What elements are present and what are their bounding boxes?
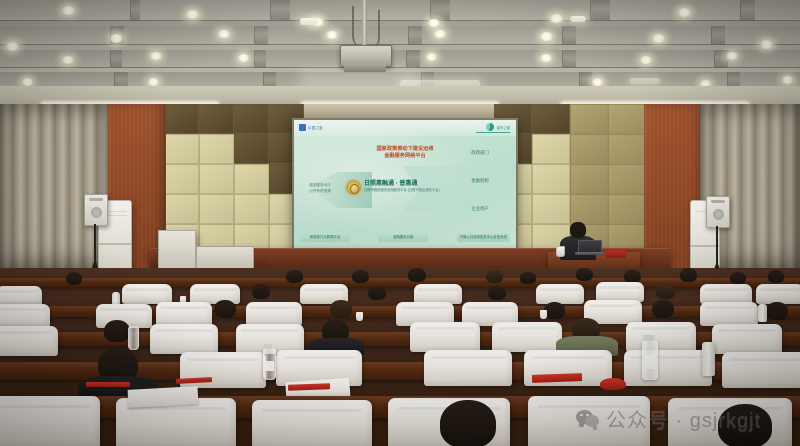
slide-logo-right: 省市之窗 [486,123,510,131]
attendee-head [520,272,536,284]
ceiling-downlight [148,78,159,86]
bottle-cap [264,344,272,349]
ceiling-downlight [62,56,74,64]
ceiling-downlight [426,53,437,61]
ceiling-slot-light [570,16,586,22]
chair-cover [156,302,212,326]
ceiling-downlight [726,52,738,60]
slide-bottom-chip-row: 政府部门大数据平台 金融服务对接 济南公共信用信息中心征信系统 [300,233,510,242]
chair-cover [624,350,712,386]
slide-right-label-government: 政府部门 [452,150,508,156]
ceiling-downlight [434,30,446,38]
eyeglasses [122,360,136,371]
ceiling-downlight [238,54,249,62]
slide-header-bar [294,120,516,136]
slide-left-label: 政务服务大厅 公开专项资源 [298,182,342,194]
attendee-head [576,268,593,281]
attendee-head [488,286,506,300]
red-ribbon [600,378,626,390]
ceiling-downlight [326,31,338,39]
ceiling-downlight [678,8,691,17]
attendee-head [486,270,503,283]
ceiling-downlight [110,34,123,43]
watermark-text: 公众号 · gsjrkgjt [606,404,761,433]
chair-cover [756,284,800,304]
attendee-head [440,400,496,446]
slide-logo-right-text: 省市之窗 [496,125,510,130]
document-paper [128,386,199,408]
chair-cover [0,304,50,328]
projection-screen: 中国之窗 省市之窗 国家政策推动下建设运维 金融服务网络平台 日照惠融通 · 普… [292,118,518,250]
attendee-head [656,284,675,299]
slide-content: 中国之窗 省市之窗 国家政策推动下建设运维 金融服务网络平台 日照惠融通 · 普… [294,120,516,248]
wechat-icon [576,409,600,429]
loudspeaker-left [84,194,108,226]
attendee-head [368,286,386,300]
chair-cover [122,284,172,304]
presenter-nameplate [606,250,626,258]
bottle-cap [643,335,654,341]
chair-cover [414,284,462,304]
ceiling-downlight [22,78,33,86]
attendee-head [408,268,426,282]
slide-title-line1: 国家政策推动下建设运维 [376,146,433,153]
ceiling-downlight [652,34,665,43]
ceiling-downlight [782,76,793,84]
chair-cover [0,286,42,306]
chair-cover [712,324,782,354]
ceiling-downlight [218,30,230,38]
attendee-head [286,270,303,283]
wechat-bubble-small [585,415,599,427]
bottle-label [644,355,656,369]
slide-subtitle: 日照市融资服务信用服务平台 (日照市惠企服务平台) [364,187,440,192]
ceiling-downlight [62,6,75,15]
ceiling-downlight [550,14,563,23]
attendee-head [66,272,82,285]
slide-logo-right-icon [486,123,494,131]
chair-cover [190,284,240,304]
slide-title-line2: 金融服务网络平台 [376,153,433,160]
conference-hall-photo: 中国之窗 省市之窗 国家政策推动下建设运维 金融服务网络平台 日照惠融通 · 普… [0,0,800,446]
water-bottle [263,348,276,380]
ceiling-downlight [760,40,773,49]
ceiling-slot-light [300,18,318,25]
paper-cup [356,312,363,321]
slide-logo-left-text: 中国之窗 [308,125,323,130]
ceiling-downlight [592,78,603,86]
presenter-cup [556,246,565,257]
chair-cover [536,284,584,304]
window-curtain-left [0,104,108,276]
attendee-head [252,284,270,299]
chair-cover [150,324,218,354]
projector-cable [366,10,380,50]
chair-cover [0,326,58,356]
water-bottle [128,326,139,350]
attendee-head [680,268,697,282]
slide-logo-left-icon [299,124,306,131]
slide-right-label-enterprise: 企业用户 [452,206,508,212]
attendee-head [544,302,565,319]
ceiling-downlight [6,42,19,51]
slide-right-label-column: 政府部门 金融机构 企业用户 [452,150,508,234]
ceiling-downlight [540,54,552,62]
slide-left-label-line2: 公开专项资源 [298,188,342,194]
attendee-head [652,300,674,318]
slide-seal-icon [346,180,361,195]
slide-chip-bigdata: 政府部门大数据平台 [300,233,350,242]
chair-cover [252,400,372,446]
bottle-label [265,361,274,371]
chair-cover [722,352,800,388]
desk-row [0,278,800,287]
attendee-head [766,302,788,320]
attendee-head [768,270,784,283]
thermos-bottle [758,304,767,322]
ceiling-downlight [186,10,199,19]
slide-header-rule [476,132,510,133]
projector-base [344,64,386,72]
slide-seal-inner-icon [350,184,359,194]
ceiling-slot-light [630,78,660,84]
paper-cup [540,310,547,319]
slide-right-label-financial: 金融机构 [452,178,508,184]
chair-cover [410,322,480,352]
slide-headline: 日照惠融通 · 普惠通 [364,178,417,187]
presenter-head [570,222,586,238]
ceiling-downlight [428,19,440,27]
slide-chip-credit: 济南公共信用信息中心征信系统 [457,233,510,242]
loudspeaker-right [706,196,730,228]
slide-chip-matching: 金融服务对接 [378,233,428,242]
watermark: 公众号 · gsjrkgjt [576,404,761,433]
water-bottle [642,340,658,380]
ceiling-downlight [150,52,162,60]
ceiling-downlight [640,56,652,64]
slide-title: 国家政策推动下建设运维 金融服务网络平台 [376,146,433,160]
presenter-laptop-base [575,252,603,255]
chair-cover [0,396,100,446]
attendee-head [730,272,746,284]
attendee-head [352,270,369,283]
chair-cover [626,322,696,352]
chair-cover [596,282,644,302]
chair-cover [492,322,562,352]
red-pen [86,382,130,387]
chair-cover [700,302,758,326]
slide-logo-left: 中国之窗 [299,124,323,131]
attendee-head [330,300,352,318]
chair-cover [246,302,302,326]
stage-podium [158,230,196,270]
attendee-head [104,320,130,342]
chair-cover [424,350,512,386]
ceiling-downlight [540,32,553,41]
chair-cover [700,284,752,304]
attendee-head [214,300,236,318]
thermos-bottle [702,342,715,376]
